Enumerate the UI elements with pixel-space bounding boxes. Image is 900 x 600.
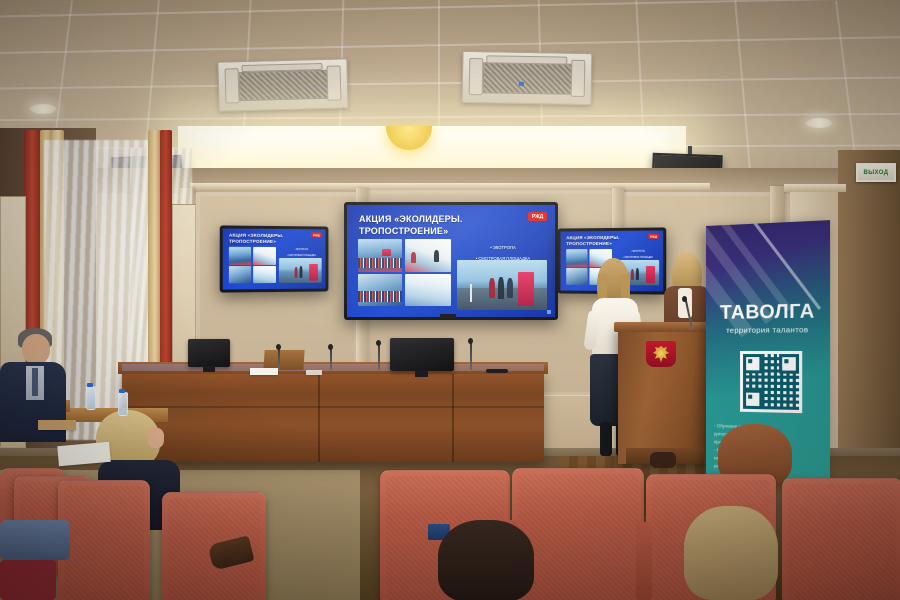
slide-photo-3 (405, 274, 451, 306)
attendee-front-blonde-hair (684, 506, 778, 600)
folder-on-table (38, 420, 76, 430)
ceiling-ac-unit-right (462, 51, 593, 105)
attendee-front-dark-hair (438, 520, 534, 600)
water-bottle-1-cap (87, 383, 93, 387)
microphone-1-head (276, 344, 281, 350)
banner-logo: ТАВОЛГА территория талантов (714, 302, 822, 335)
ceiling-downlight-1 (30, 104, 56, 114)
attendee-man-tie (32, 368, 38, 396)
desk-nameplate (263, 350, 304, 370)
microphone-4 (470, 342, 472, 370)
paper-sheet-2 (306, 370, 322, 375)
main-display-stand (440, 314, 456, 319)
desk-monitor-left[interactable] (188, 339, 230, 367)
attendee-shoe-far (650, 452, 676, 468)
microphone-2-head (328, 344, 333, 350)
microphone-4-head (468, 338, 473, 344)
microphone-3 (378, 344, 380, 370)
slide-left-title1: АКЦИЯ «ЭКОЛИДЕРЫ. (229, 233, 295, 239)
slide-right-title1: АКЦИЯ «ЭКОЛИДЕРЫ. (566, 235, 631, 241)
slide-right-title2: ТРОПОСТРОЕНИЕ» (566, 241, 635, 247)
attendee-front-dark (438, 520, 534, 600)
water-bottle-1 (86, 386, 96, 410)
microphone-3-head (376, 340, 381, 346)
slide-photo-4 (457, 260, 547, 310)
slide-center: АКЦИЯ «ЭКОЛИДЕРЫ. ТРОПОСТРОЕНИЕ» РЖД • Э… (347, 205, 555, 317)
right-door-lintel (784, 184, 846, 192)
attendee-woman-face (148, 428, 164, 448)
slide-left-rzd-logo: РЖД (311, 232, 322, 237)
slide-bullet-0: • ЭКОТРОПА (455, 243, 551, 254)
desk-monitor-left-stand (203, 366, 215, 372)
attendee-leg-jeans (0, 520, 70, 560)
qr-code[interactable] (740, 351, 802, 413)
main-display-center[interactable]: АКЦИЯ «ЭКОЛИДЕРЫ. ТРОПОСТРОЕНИЕ» РЖД • Э… (344, 202, 558, 320)
attendee-man-head (22, 334, 50, 364)
slide-photo-2 (358, 274, 402, 306)
slide-photo-0 (358, 239, 402, 272)
water-bottle-2 (118, 392, 128, 416)
rzd-logo: РЖД (528, 212, 547, 221)
remote-control[interactable] (486, 369, 508, 373)
banner-logo-sub: территория талантов (714, 325, 822, 335)
conference-hall-photo: ВЫХОД АКЦИЯ «ЭКОЛИДЕРЫ. ТРОПОСТРОЕНИЕ» Р… (0, 0, 900, 600)
slide-photo-1 (405, 239, 451, 272)
slide-page-marker (547, 310, 551, 314)
wall-cornice (190, 183, 710, 190)
microphone-1 (278, 348, 280, 370)
slide-title-line2: ТРОПОСТРОЕНИЕ» (359, 226, 489, 236)
desk-monitor-right[interactable] (390, 338, 454, 371)
podium-microphone-head (682, 296, 687, 302)
chair-armrest-1 (636, 522, 652, 600)
slide-left-title2: ТРОПОСТРОЕНИЕ» (229, 239, 299, 245)
exit-sign-label: ВЫХОД (864, 170, 889, 176)
table-surface-sheen (122, 364, 544, 371)
slide-title-line1: АКЦИЯ «ЭКОЛИДЕРЫ. (359, 214, 479, 224)
water-bottle-2-cap (119, 389, 125, 393)
russian-coat-of-arms-emblem (646, 341, 676, 367)
paper-sheet-1 (250, 368, 278, 375)
banner-logo-main: ТАВОЛГА (714, 302, 822, 323)
exit-sign: ВЫХОД (856, 163, 896, 182)
presenter-left-boot-l (600, 422, 612, 456)
attendee-front-blonde (684, 506, 778, 600)
ceiling-ac-unit-left (217, 58, 348, 111)
attendee-bag (0, 560, 56, 600)
slide-right-rzd-logo: РЖД (648, 234, 659, 239)
chair-front-3[interactable] (782, 478, 900, 600)
double-eagle-icon (652, 346, 670, 363)
attendee-man-suit (0, 328, 78, 458)
side-display-left[interactable]: АКЦИЯ «ЭКОЛИДЕРЫ. ТРОПОСТРОЕНИЕ» РЖД • Э… (220, 225, 329, 292)
desk-monitor-right-stand (415, 370, 428, 377)
right-wall (838, 150, 900, 470)
ceiling-downlight-2 (806, 118, 832, 128)
podium-top (614, 322, 716, 332)
microphone-2 (330, 348, 332, 370)
chair-row1-0[interactable] (58, 480, 150, 600)
slide-left: АКЦИЯ «ЭКОЛИДЕРЫ. ТРОПОСТРОЕНИЕ» РЖД • Э… (223, 229, 326, 290)
